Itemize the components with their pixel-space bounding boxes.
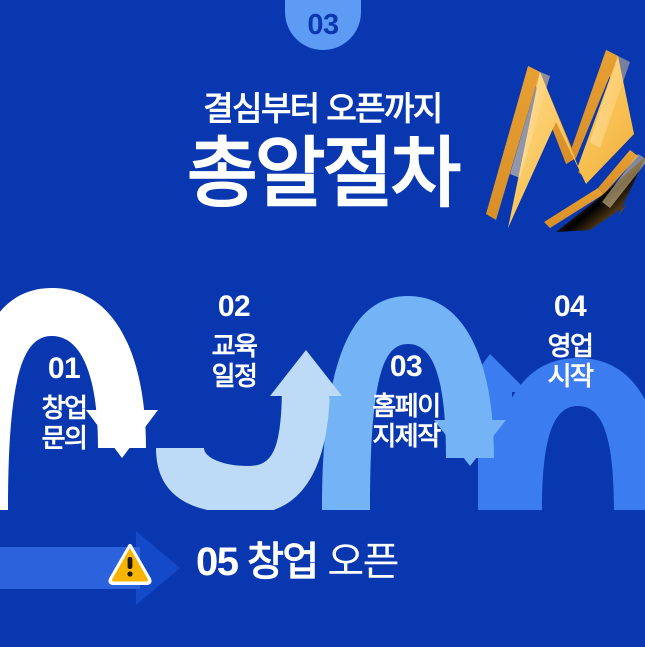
flow-step-01: 01 창업 문의 bbox=[8, 352, 120, 453]
flow-step-03-number: 03 bbox=[345, 350, 467, 385]
warning-triangle-icon bbox=[108, 543, 152, 585]
lightning-bolt-icon bbox=[478, 38, 645, 236]
flow-step-02: 02 교육 일정 bbox=[178, 290, 290, 391]
flow-step-01-number: 01 bbox=[8, 352, 120, 387]
flow-step-04-number: 04 bbox=[512, 290, 628, 325]
flow-step-01-label-line2: 문의 bbox=[8, 423, 120, 453]
flow-step-02-number: 02 bbox=[178, 290, 290, 325]
flow-step-04-label-line2: 시작 bbox=[512, 361, 628, 391]
flow-step-03-label-line1: 홈페이 bbox=[345, 391, 467, 421]
section-badge: 03 bbox=[285, 0, 361, 50]
final-step-arrow-bar bbox=[0, 531, 180, 605]
flow-step-03: 03 홈페이 지제작 bbox=[345, 350, 467, 451]
final-step-row bbox=[0, 531, 645, 605]
flow-step-04: 04 영업 시작 bbox=[512, 290, 628, 391]
flow-step-02-label-line2: 일정 bbox=[178, 361, 290, 391]
flow-step-04-label-line1: 영업 bbox=[512, 331, 628, 361]
infographic-canvas: 03 결심부터 오픈까지 총알절차 bbox=[0, 0, 645, 647]
section-badge-number: 03 bbox=[307, 11, 338, 40]
flow-step-01-label-line1: 창업 bbox=[8, 393, 120, 423]
flow-step-03-label-line2: 지제작 bbox=[345, 421, 467, 451]
flow-step-02-label-line1: 교육 bbox=[178, 331, 290, 361]
